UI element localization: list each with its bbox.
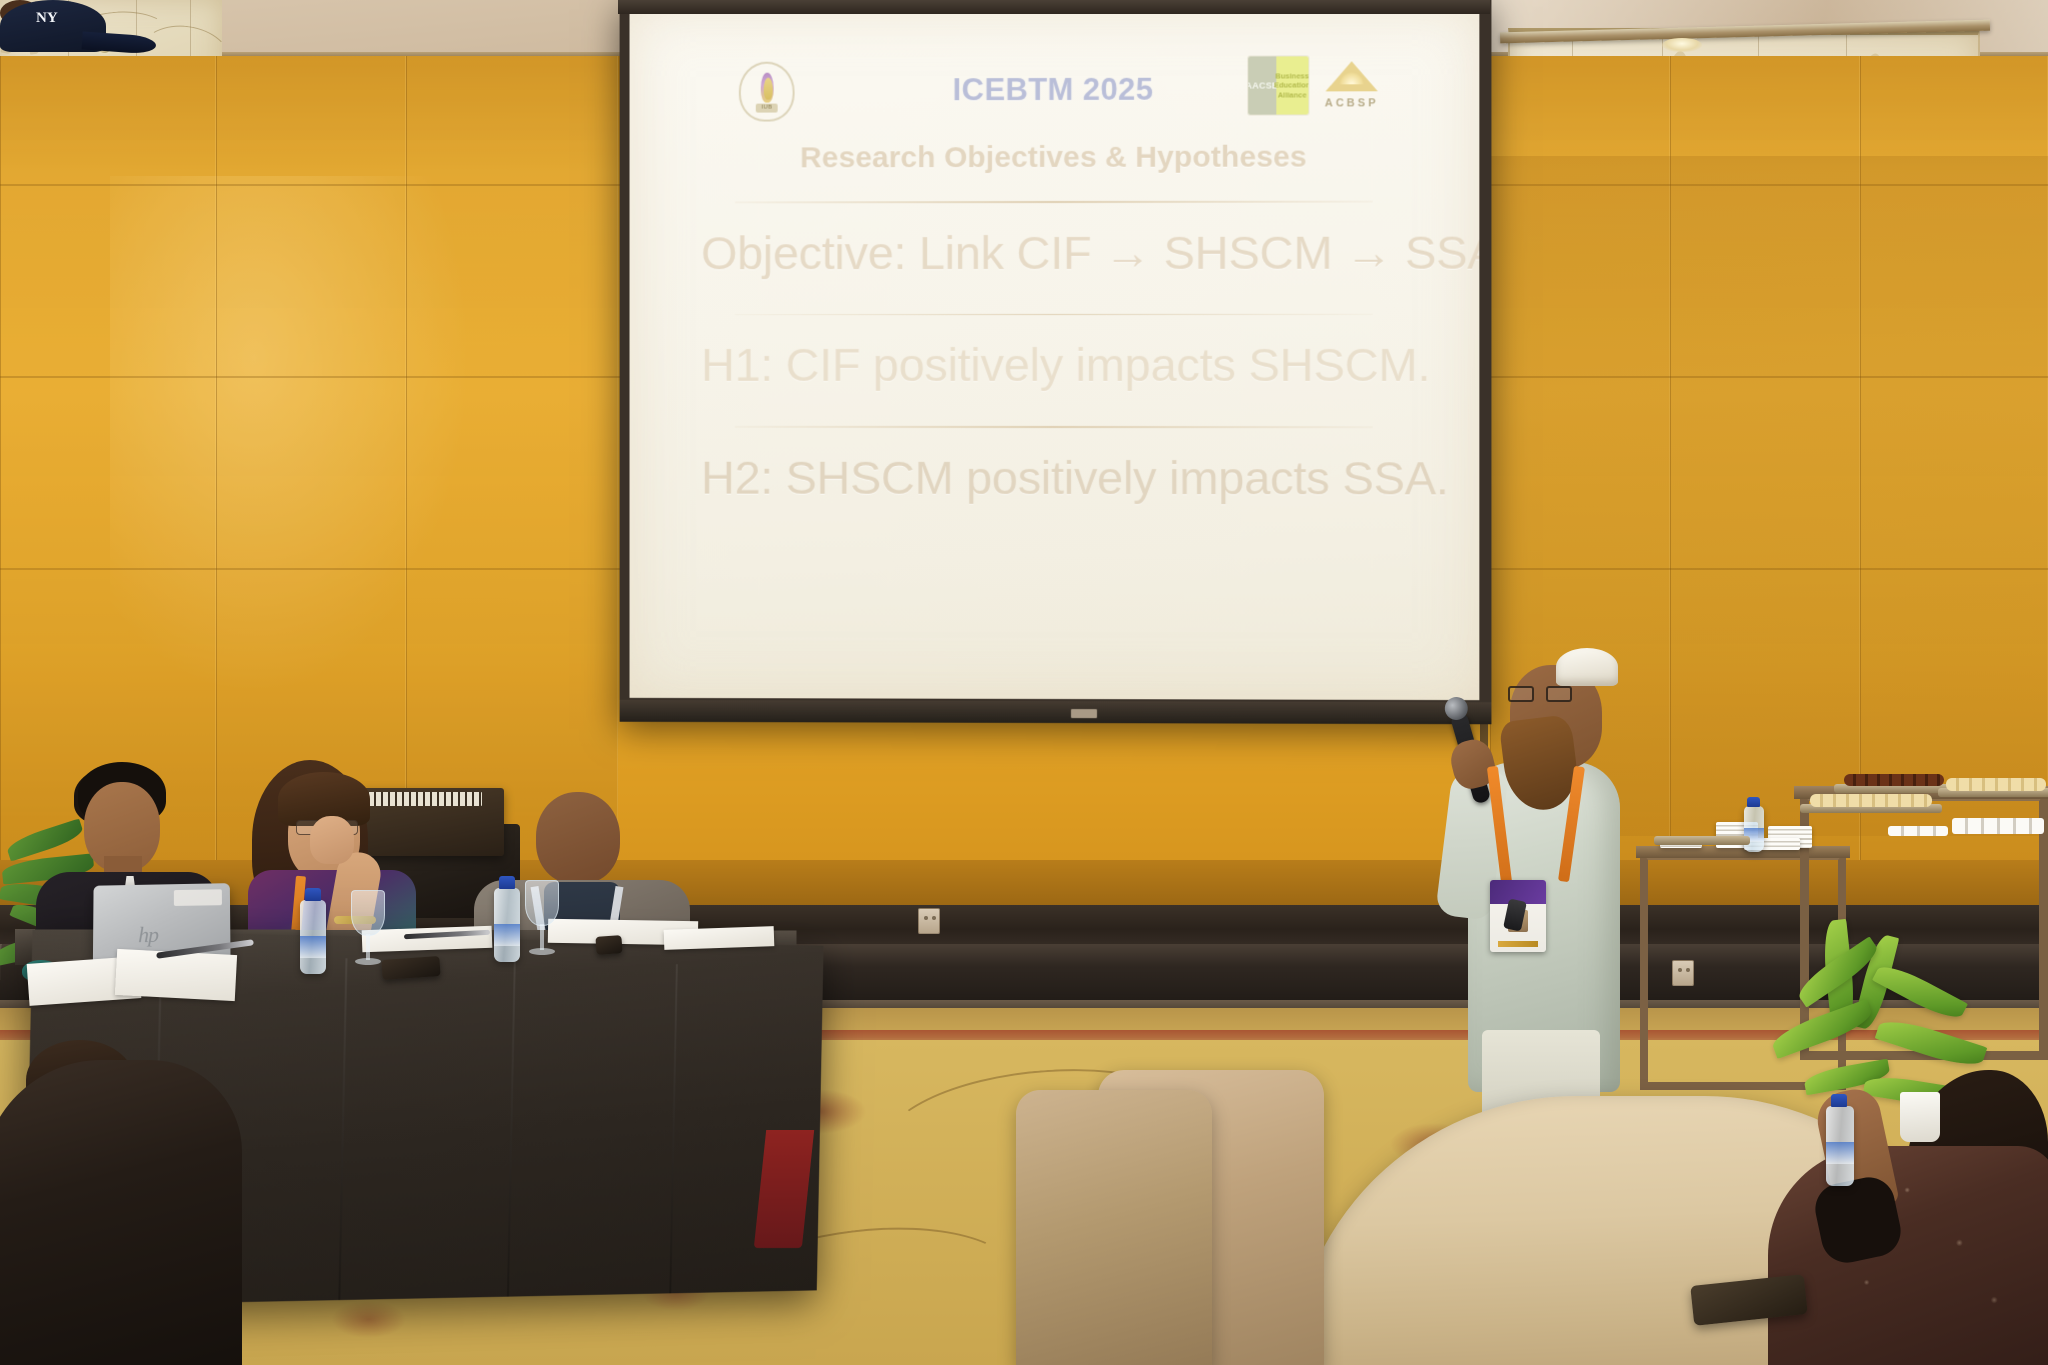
slide-header: IUB ICEBTM 2025 AACSB Business Education… xyxy=(683,54,1425,126)
iub-logo-caption: IUB xyxy=(756,104,778,113)
slide-bullet-h1: H1: CIF positively impacts SHSCM. xyxy=(701,337,1425,392)
saucers xyxy=(1888,826,1948,836)
acbsp-mark: ACBSP xyxy=(1325,97,1379,109)
panelist-man-with-cap: NY xyxy=(0,0,106,52)
harmonium-instrument xyxy=(358,788,504,856)
water-bottle[interactable] xyxy=(1826,1106,1854,1186)
screen-roller-housing xyxy=(618,0,1490,14)
water-bottle[interactable] xyxy=(1744,806,1764,852)
presenter-taqiyah-cap xyxy=(1556,648,1618,686)
panelist-3-head xyxy=(536,792,620,884)
tea-cups xyxy=(1952,818,2044,834)
aacsb-tagline-line3: Alliance xyxy=(1278,90,1307,99)
slide-bullet-h2: H2: SHSCM positively impacts SSA. xyxy=(701,449,1425,505)
water-bottle[interactable] xyxy=(494,888,520,962)
acbsp-sunburst-icon xyxy=(1340,72,1364,84)
aacsb-tagline: Business Education Alliance xyxy=(1276,56,1309,114)
panelist-2-hand xyxy=(310,816,354,864)
seated-attendee-left xyxy=(0,1060,242,1365)
projection-screen: IUB ICEBTM 2025 AACSB Business Education… xyxy=(620,0,1492,724)
badge-footer-band xyxy=(1498,941,1538,947)
serving-tray xyxy=(1654,836,1750,845)
accreditation-logo-group: AACSB Business Education Alliance ACBSP xyxy=(1248,56,1385,114)
slide-content: IUB ICEBTM 2025 AACSB Business Education… xyxy=(630,8,1480,700)
printed-papers[interactable] xyxy=(664,926,775,950)
slide-divider-1 xyxy=(735,201,1373,203)
acbsp-logo: ACBSP xyxy=(1319,56,1385,114)
screen-brand-label xyxy=(1071,709,1097,718)
banquet-chair xyxy=(1016,1090,1212,1365)
screen-bottom-bar xyxy=(620,700,1492,724)
laptop-sticker xyxy=(174,889,222,906)
wall-power-outlet xyxy=(1672,960,1694,986)
hp-logo-icon: hp xyxy=(138,922,158,948)
aacsb-tagline-line2: Education xyxy=(1274,81,1308,90)
printed-papers[interactable] xyxy=(115,949,237,1001)
paper-cup[interactable] xyxy=(1900,1092,1940,1142)
wine-glass[interactable] xyxy=(348,890,388,968)
harmonium-keys xyxy=(362,792,482,806)
slide-divider-3 xyxy=(735,426,1373,428)
aacsb-logo: AACSB Business Education Alliance xyxy=(1248,56,1308,114)
wall-power-outlet xyxy=(918,908,940,934)
slide-bullet-objective: Objective: Link CIF → SHSCM → SSA. xyxy=(701,224,1425,280)
water-bottle[interactable] xyxy=(300,900,326,974)
iub-university-crest-logo: IUB xyxy=(739,62,795,122)
mobile-phone[interactable] xyxy=(381,956,440,980)
panelist-3-baseball-cap: NY xyxy=(0,0,106,52)
recessed-ceiling-light-icon xyxy=(1662,38,1702,52)
pastries xyxy=(1810,794,1932,807)
wine-glass[interactable] xyxy=(522,880,562,958)
slide-title: Research Objectives & Hypotheses xyxy=(683,140,1425,175)
mobile-phone[interactable] xyxy=(595,935,622,955)
slide-surface: IUB ICEBTM 2025 AACSB Business Education… xyxy=(630,8,1480,700)
conference-hall-photo: IUB ICEBTM 2025 AACSB Business Education… xyxy=(0,0,2048,1365)
pastries xyxy=(1946,778,2046,791)
cap-ny-logo: NY xyxy=(36,10,54,26)
seated-attendee-right-with-water-bottle xyxy=(1768,1146,2048,1365)
presenter-glasses-icon xyxy=(1508,686,1572,702)
aacsb-mark: AACSB xyxy=(1248,56,1276,114)
conference-title: ICEBTM 2025 xyxy=(953,72,1154,108)
slide-divider-2 xyxy=(735,313,1373,315)
aacsb-tagline-line1: Business xyxy=(1275,71,1308,80)
dates xyxy=(1844,774,1944,786)
